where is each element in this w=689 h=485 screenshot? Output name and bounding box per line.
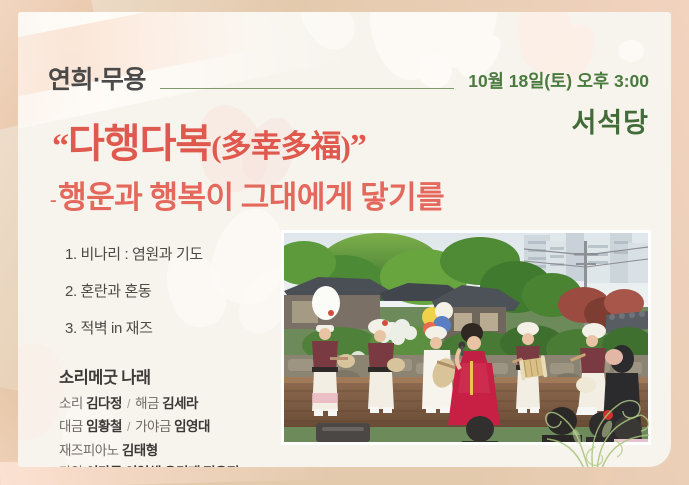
credit-name: 이다름 이영채 우경재 정유정: [86, 465, 239, 467]
title-hanja-text: (多幸多福): [211, 129, 350, 164]
credit-name: 임영대: [174, 419, 210, 434]
credit-line: 소리 김다정 / 해금 김세라: [59, 397, 299, 412]
poster-card: 연희·무용 10월 18일(토) 오후 3:00 서석당 “다행다복(多幸多福)…: [18, 12, 671, 467]
credit-separator: /: [127, 399, 130, 411]
credit-role: 타악: [59, 465, 83, 467]
list-item: 1. 비나리 : 염원과 기도: [65, 247, 290, 262]
credits-block: 소리메굿 나래 소리 김다정 / 해금 김세라 대금 임황철 / 가야금 임영대…: [59, 370, 299, 467]
header-divider-rule: [160, 88, 454, 89]
subtitle-text: 행운과 행복이 그대에게 닿기를: [58, 180, 444, 215]
foreground-chair: [316, 423, 370, 442]
credit-role: 재즈피아노: [59, 443, 119, 458]
card-light-sheen-secondary: [18, 12, 260, 118]
event-venue: 서석당: [571, 110, 649, 137]
credit-role: 가야금: [135, 419, 171, 434]
subtitle-dash: -: [50, 189, 56, 211]
event-poster: 연희·무용 10월 18일(토) 오후 3:00 서석당 “다행다복(多幸多福)…: [0, 0, 689, 485]
credits-group-name: 소리메굿 나래: [59, 370, 299, 387]
credit-role: 대금: [59, 419, 83, 434]
title-main-text: 다행다복: [68, 121, 211, 166]
list-item: 2. 혼란과 혼동: [65, 284, 290, 299]
credit-name: 김태형: [122, 443, 158, 458]
performance-photo: [284, 233, 648, 442]
program-list: 1. 비나리 : 염원과 기도 2. 혼란과 혼동 3. 적벽 in 재즈: [65, 247, 290, 358]
credit-name: 김다정: [86, 396, 122, 411]
credit-role: 해금: [135, 396, 159, 411]
performance-photo-frame: [281, 230, 651, 445]
genre-label: 연희·무용: [48, 68, 146, 93]
credit-line: 재즈피아노 김태형: [59, 444, 299, 458]
poster-header-row: 연희·무용 10월 18일(토) 오후 3:00: [48, 68, 649, 93]
title-quote-open: “: [52, 128, 68, 165]
performance-photo-illustration: [284, 233, 648, 442]
event-datetime: 10월 18일(토) 오후 3:00: [468, 73, 649, 91]
credit-line: 타악 이다름 이영채 우경재 정유정: [59, 466, 299, 467]
credit-name: 임황철: [86, 419, 122, 434]
credit-name: 김세라: [162, 396, 198, 411]
credit-role: 소리: [59, 396, 83, 411]
credit-separator: /: [127, 422, 130, 434]
poster-title: “다행다복(多幸多福)”: [52, 122, 366, 166]
list-item: 3. 적벽 in 재즈: [65, 321, 290, 336]
title-quote-close: ”: [350, 128, 366, 165]
credit-line: 대금 임황철 / 가야금 임영대: [59, 420, 299, 435]
poster-subtitle: -행운과 행복이 그대에게 닿기를: [50, 180, 444, 216]
